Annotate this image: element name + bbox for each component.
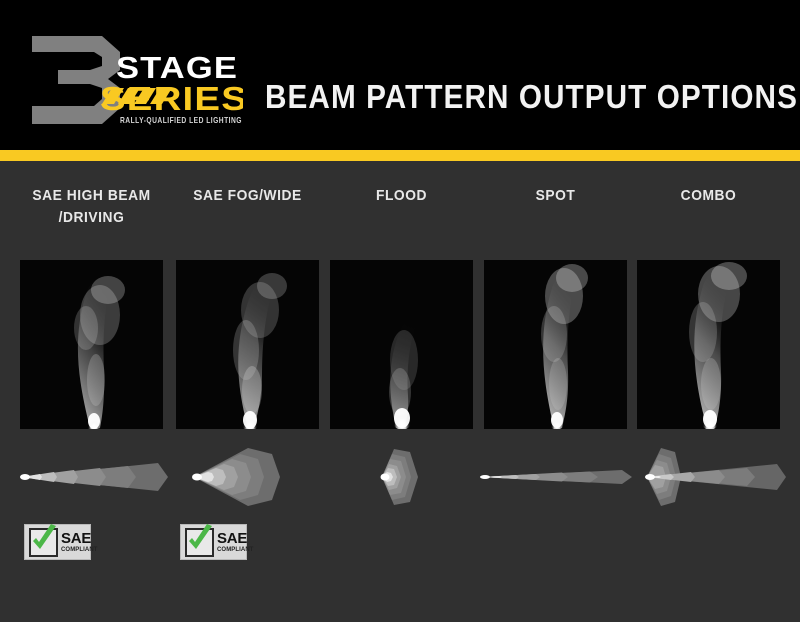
beam-column-label-line1: SAE FOG/WIDE xyxy=(193,187,302,204)
sae-compliant-badge: SAE COMPLIANT xyxy=(24,524,91,560)
checkbox-icon xyxy=(29,528,58,557)
badge-text: SAE COMPLIANT xyxy=(217,531,254,553)
beam-column-sae-fog-wide: SAE FOG/WIDE xyxy=(176,161,319,622)
beam-column-combo: COMBO xyxy=(637,161,780,622)
beam-diagram-spot xyxy=(472,446,639,508)
beam-column-label: SAE HIGH BEAM /DRIVING xyxy=(13,185,170,229)
beam-photo-spot xyxy=(484,260,627,429)
badge-primary-text: SAE xyxy=(61,531,98,546)
accent-divider-bar xyxy=(0,150,800,161)
beam-column-label: FLOOD xyxy=(323,185,480,207)
logo-word-series: SERIES xyxy=(100,80,243,117)
logo-tagline: RALLY-QUALIFIED LED LIGHTING xyxy=(120,115,242,125)
beam-column-spot: SPOT xyxy=(484,161,627,622)
content-area: SAE HIGH BEAM /DRIVING xyxy=(0,161,800,622)
badge-text: SAE COMPLIANT xyxy=(61,531,98,553)
beam-column-label-line1: SAE HIGH BEAM xyxy=(32,187,150,204)
beam-photo-sae-fog-wide xyxy=(176,260,319,429)
beam-pattern-columns: SAE HIGH BEAM /DRIVING xyxy=(0,161,800,622)
stage-series-logo: STAGE SERIES RALLY-QUALIFIED LED LIGHTIN… xyxy=(28,26,243,131)
beam-column-sae-high-beam-driving: SAE HIGH BEAM /DRIVING xyxy=(20,161,163,622)
beam-column-label: SAE FOG/WIDE xyxy=(169,185,326,207)
beam-photo-sae-high-beam-driving xyxy=(20,260,163,429)
beam-column-label-line1: SPOT xyxy=(536,187,576,204)
beam-diagram-flood xyxy=(318,446,485,508)
beam-photo-flood xyxy=(330,260,473,429)
beam-column-label-line1: FLOOD xyxy=(376,187,427,204)
badge-secondary-text: COMPLIANT xyxy=(217,547,254,553)
badge-primary-text: SAE xyxy=(217,531,254,546)
beam-column-label: SPOT xyxy=(477,185,634,207)
beam-diagram-wide xyxy=(164,446,331,508)
badge-secondary-text: COMPLIANT xyxy=(61,547,98,553)
beam-column-flood: FLOOD xyxy=(330,161,473,622)
beam-photo-combo xyxy=(637,260,780,429)
beam-column-label: COMBO xyxy=(630,185,787,207)
page-title: BEAM PATTERN OUTPUT OPTIONS xyxy=(265,76,733,118)
sae-compliant-badge: SAE COMPLIANT xyxy=(180,524,247,560)
beam-diagram-driving xyxy=(8,446,175,508)
beam-diagram-combo xyxy=(625,446,792,508)
header-bar: STAGE SERIES RALLY-QUALIFIED LED LIGHTIN… xyxy=(0,0,800,150)
checkbox-icon xyxy=(185,528,214,557)
beam-column-label-line1: COMBO xyxy=(681,187,737,204)
beam-column-label-line2: /DRIVING xyxy=(59,209,125,226)
beam-pattern-infographic: STAGE SERIES RALLY-QUALIFIED LED LIGHTIN… xyxy=(0,0,800,622)
